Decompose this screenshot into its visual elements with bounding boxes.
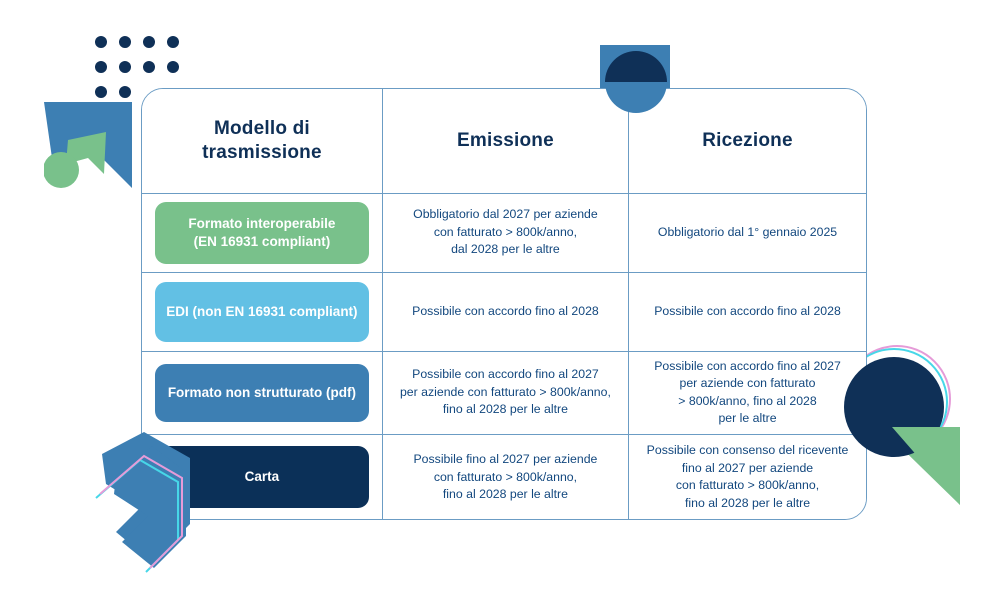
ricezione-line4: per le altre	[643, 410, 852, 427]
ricezione-line1: Obbligatorio dal 1° gennaio 2025	[643, 224, 852, 241]
grid-dot	[143, 36, 155, 48]
column-header-ricezione-label: Ricezione	[629, 129, 866, 153]
transmission-model-table: Modello di trasmissione Emissione Ricezi…	[141, 88, 867, 520]
row-category-cell: Formato interoperabile (EN 16931 complia…	[142, 193, 382, 272]
emissione-line3: dal 2028 per le altre	[397, 241, 614, 258]
row-emissione-cell: Possibile con accordo fino al 2028	[382, 272, 628, 351]
column-header-emissione: Emissione	[382, 89, 628, 193]
row-ricezione-cell: Possibile con consenso del ricevente fin…	[629, 434, 866, 520]
emissione-line1: Possibile fino al 2027 per aziende	[397, 451, 614, 468]
row-category-cell: Formato non strutturato (pdf)	[142, 351, 382, 434]
column-header-ricezione: Ricezione	[629, 89, 866, 193]
category-badge-line1: Formato interoperabile	[188, 215, 335, 233]
grid-dot	[119, 111, 131, 123]
grid-dot	[143, 61, 155, 73]
column-header-modello-line1: Modello di	[142, 117, 382, 141]
category-badge-line1: Formato non strutturato (pdf)	[168, 384, 356, 402]
arrow-cluster-top-left-icon	[44, 98, 144, 190]
column-header-modello-line2: trasmissione	[142, 141, 382, 165]
category-badge-carta[interactable]: Carta	[155, 446, 369, 508]
row-emissione-cell: Possibile fino al 2027 per aziende con f…	[382, 434, 628, 520]
category-badge-line1: EDI (non EN 16931 compliant)	[166, 303, 357, 321]
category-badge-edi[interactable]: EDI (non EN 16931 compliant)	[155, 282, 369, 342]
category-badge-formato-interoperabile[interactable]: Formato interoperabile (EN 16931 complia…	[155, 202, 369, 264]
emissione-line3: fino al 2028 per le altre	[397, 401, 614, 418]
grid-dot	[167, 36, 179, 48]
ricezione-line3: > 800k/anno, fino al 2028	[643, 393, 852, 410]
row-ricezione-cell: Possibile con accordo fino al 2028	[629, 272, 866, 351]
grid-dot	[95, 61, 107, 73]
table-row: Formato non strutturato (pdf) Possibile …	[142, 351, 866, 434]
ricezione-line2: fino al 2027 per aziende	[643, 460, 852, 477]
emissione-line2: con fatturato > 800k/anno,	[397, 469, 614, 486]
grid-dot	[95, 86, 107, 98]
row-category-cell: Carta	[142, 434, 382, 520]
category-badge-line1: Carta	[245, 468, 280, 486]
category-badge-formato-non-strutturato[interactable]: Formato non strutturato (pdf)	[155, 364, 369, 422]
grid-dot	[119, 36, 131, 48]
column-header-emissione-label: Emissione	[383, 129, 628, 153]
ricezione-line3: con fatturato > 800k/anno,	[643, 477, 852, 494]
ricezione-line1: Possibile con consenso del ricevente	[643, 442, 852, 459]
row-ricezione-cell: Obbligatorio dal 1° gennaio 2025	[629, 193, 866, 272]
ricezione-line1: Possibile con accordo fino al 2028	[643, 303, 852, 320]
emissione-line1: Possibile con accordo fino al 2028	[397, 303, 614, 320]
table-row: EDI (non EN 16931 compliant) Possibile c…	[142, 272, 866, 351]
emissione-line2: per aziende con fatturato > 800k/anno,	[397, 384, 614, 401]
emissione-line2: con fatturato > 800k/anno,	[397, 224, 614, 241]
grid-dot	[119, 86, 131, 98]
row-emissione-cell: Obbligatorio dal 2027 per aziende con fa…	[382, 193, 628, 272]
emissione-line3: fino al 2028 per le altre	[397, 486, 614, 503]
category-badge-line2: (EN 16931 compliant)	[188, 233, 335, 251]
emissione-line1: Possibile con accordo fino al 2027	[397, 366, 614, 383]
column-header-modello: Modello di trasmissione	[142, 89, 382, 193]
infographic-canvas: Modello di trasmissione Emissione Ricezi…	[0, 0, 1000, 600]
ricezione-line1: Possibile con accordo fino al 2027	[643, 358, 852, 375]
row-ricezione-cell: Possibile con accordo fino al 2027 per a…	[629, 351, 866, 434]
table-row: Formato interoperabile (EN 16931 complia…	[142, 193, 866, 272]
grid-dot	[119, 61, 131, 73]
table-row: Carta Possibile fino al 2027 per aziende…	[142, 434, 866, 520]
grid-dot	[167, 61, 179, 73]
top-square-decoration	[600, 45, 670, 93]
table-header-row: Modello di trasmissione Emissione Ricezi…	[142, 89, 866, 193]
row-category-cell: EDI (non EN 16931 compliant)	[142, 272, 382, 351]
grid-dot	[95, 36, 107, 48]
emissione-line1: Obbligatorio dal 2027 per aziende	[397, 206, 614, 223]
row-emissione-cell: Possibile con accordo fino al 2027 per a…	[382, 351, 628, 434]
ricezione-line2: per aziende con fatturato	[643, 375, 852, 392]
ricezione-line4: fino al 2028 per le altre	[643, 495, 852, 512]
